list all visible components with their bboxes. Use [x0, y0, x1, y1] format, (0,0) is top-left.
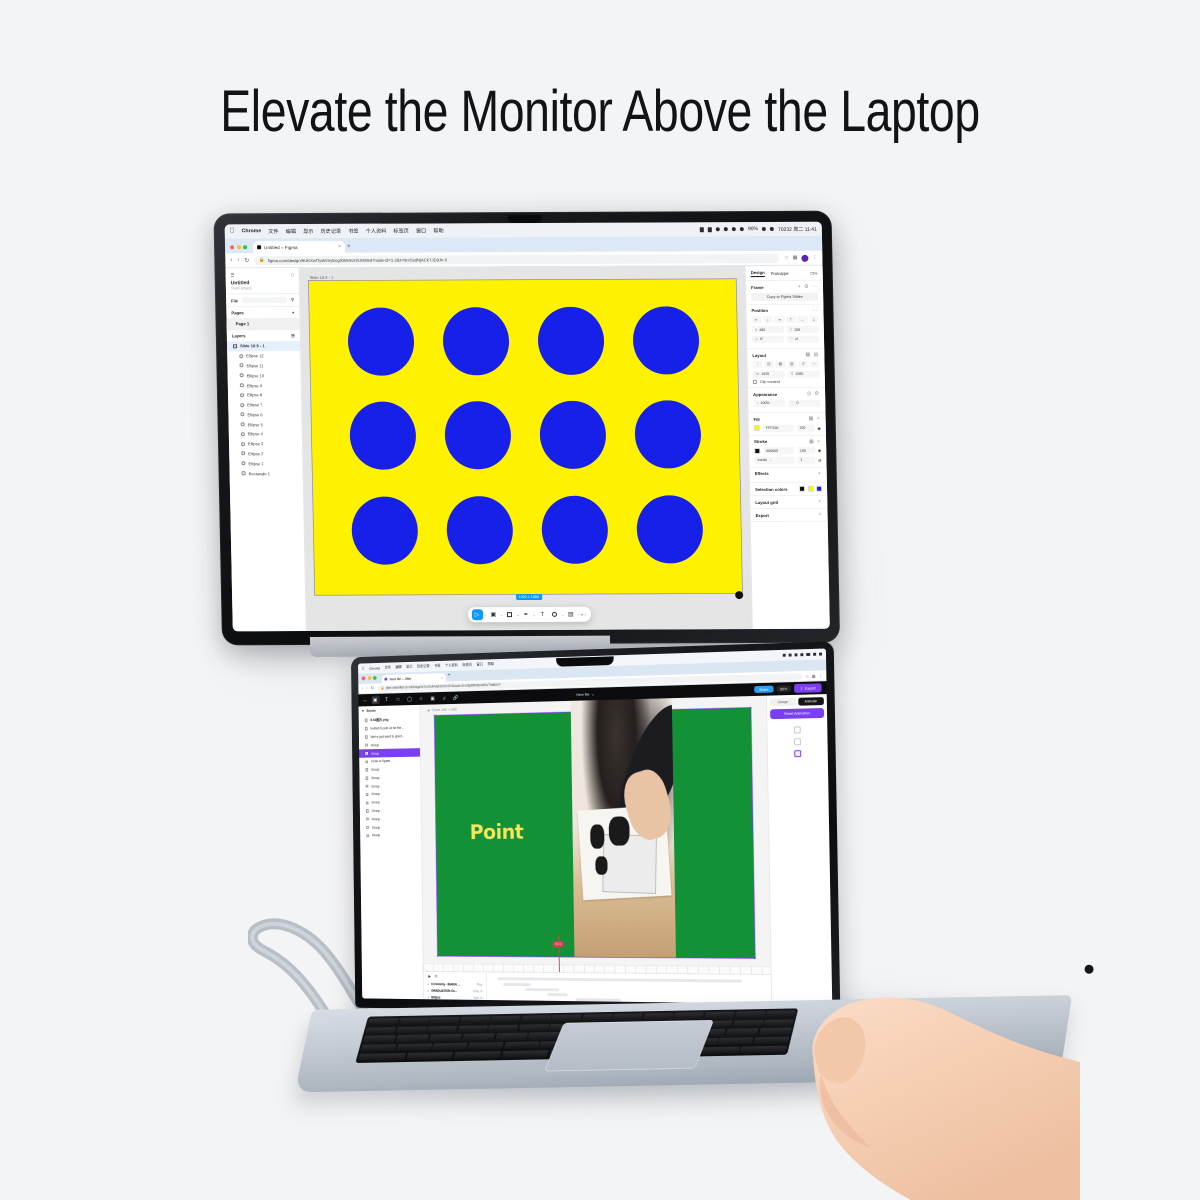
section-stroke-label: Stroke — [754, 439, 767, 444]
figma-ellipse-shape[interactable] — [633, 306, 700, 374]
keyboard-key[interactable] — [643, 1013, 674, 1021]
browser-action-icons[interactable]: ☆ ▦ ⋮ — [784, 254, 817, 261]
jitter-layer-item[interactable]: Group — [360, 831, 421, 840]
keyboard-key[interactable] — [406, 1052, 454, 1060]
keyboard-key[interactable] — [398, 1017, 429, 1025]
menu-help[interactable]: 帮助 — [433, 227, 444, 234]
stroke-width-field[interactable]: 1 — [797, 456, 815, 463]
jitter-favicon-icon — [385, 677, 388, 680]
jitter-zoom-level[interactable]: 86% — [776, 685, 791, 692]
section-fill: Fill▦ + FFF200 100 ◉ — [749, 413, 826, 436]
laptop-reload-icon[interactable]: ↻ — [371, 686, 374, 692]
browser-tab-figma[interactable]: Untitled – Figma × — [253, 241, 345, 253]
tab-design-jitter[interactable]: Design — [770, 698, 796, 707]
figma-logo-icon[interactable]: ☰ — [231, 272, 235, 277]
toolbar-dot-2-icon[interactable]: ● — [581, 612, 584, 617]
laptop-menu-tabs[interactable]: 标签页 — [462, 663, 472, 668]
link-tool-icon[interactable]: 🔗 — [452, 693, 460, 702]
resize-handle-tl[interactable] — [433, 715, 435, 718]
laptop-back-icon[interactable]: ‹ — [362, 686, 363, 692]
timeline-track-names[interactable]: ▶ ⟳ ♪Ceremony - Bubble ...Play♪GRADUATIO… — [424, 972, 487, 1000]
figma-page-item[interactable]: Page 1 — [227, 318, 300, 329]
star-tool-icon[interactable]: ☆ — [417, 694, 425, 703]
search-icon[interactable]: ⚲ — [291, 297, 294, 303]
keyboard-key[interactable] — [426, 1026, 457, 1034]
ellipse-icon — [241, 442, 245, 446]
jitter-layer-name: 6.63图片.png — [370, 717, 388, 722]
keyboard-key[interactable] — [360, 1044, 396, 1052]
jitter-right-panel[interactable]: Design Animate Reset Animation — [766, 694, 832, 1004]
jitter-export-button[interactable]: ⇩Export — [794, 683, 822, 692]
menubar-status-area[interactable]: 90% 70232 周二 11:41 — [700, 225, 817, 233]
audio-tool-icon[interactable]: ♫ — [440, 694, 448, 703]
battery-percent[interactable]: 90% — [748, 226, 758, 232]
figma-layer-item[interactable]: Rectangle 1 — [230, 468, 303, 478]
control-center-icon[interactable] — [740, 227, 744, 231]
laptop-menu-window[interactable]: 窗口 — [477, 662, 484, 667]
comment-tool-icon[interactable] — [549, 609, 560, 620]
track-bar-0[interactable] — [498, 977, 742, 983]
stroke-opacity-field[interactable]: 100 — [797, 447, 815, 454]
figma-layer-item[interactable]: Ellipse 12 — [227, 351, 300, 361]
canvas-headline-text[interactable]: Point — [470, 820, 524, 843]
jitter-panel-tabs[interactable]: Design Animate — [770, 697, 824, 706]
jitter-share-button[interactable]: Share — [754, 686, 773, 693]
timeline-tracks-area[interactable] — [487, 972, 772, 1003]
keyboard-key[interactable] — [528, 1032, 561, 1040]
laptop-extensions-icon[interactable]: ▦ — [812, 673, 816, 678]
stroke-row[interactable]: 000000 100 ◉ — [754, 447, 821, 454]
align-top-icon[interactable]: ⇡ — [786, 316, 796, 323]
toolbar-dot-1-icon[interactable]: ○ — [577, 612, 580, 617]
resize-handle-tr[interactable] — [749, 707, 752, 710]
window-traffic-lights[interactable] — [230, 245, 247, 253]
figma-panel-toggle-icon[interactable]: □ — [291, 272, 294, 277]
toolbar-chevron-2-icon[interactable]: ⌄ — [500, 612, 503, 617]
figma-menu-row[interactable]: ☰ □ — [226, 268, 299, 280]
layout-mode-row[interactable]: ⋮ ▤ ▦ ▧ ↺ ⋯ — [752, 360, 819, 367]
jitter-layers-list[interactable]: 6.63图片.pngInvited to join us for the ...… — [359, 714, 421, 840]
bookmark-star-icon[interactable]: ☆ — [784, 255, 789, 261]
toolbar-chevron-5-icon[interactable]: ⌄ — [561, 612, 564, 617]
layout-auto-icon[interactable]: ⋮ — [752, 361, 762, 368]
keyboard-key[interactable] — [501, 1050, 549, 1058]
keyboard-key[interactable] — [503, 1041, 539, 1049]
laptop-traffic-lights[interactable] — [362, 676, 377, 684]
fill-swatch[interactable] — [754, 425, 760, 431]
jitter-body: ▾ Scene 6.63图片.pngInvited to join us for… — [359, 694, 833, 1004]
stroke-swatch[interactable] — [754, 448, 760, 454]
figma-layer-item[interactable]: Slide 16:9 - 1 — [227, 341, 300, 351]
reset-animation-button[interactable]: Reset Animation — [770, 708, 824, 719]
keyboard-key[interactable] — [488, 1024, 519, 1032]
align-center-h-icon[interactable]: ↕ — [763, 316, 773, 323]
menu-tabs[interactable]: 标签页 — [393, 227, 409, 234]
align-left-icon[interactable]: ⇤ — [752, 316, 762, 323]
figma-layer-item[interactable]: Ellipse 5 — [229, 419, 302, 429]
figma-layer-name: Ellipse 2 — [248, 451, 263, 456]
toolbar-chevron-3-icon[interactable]: ⌄ — [516, 612, 519, 617]
frame-icon: ▣ — [427, 708, 430, 712]
jitter-layer-name: Group — [372, 817, 380, 821]
text-tool-icon[interactable]: T — [537, 609, 548, 620]
scene-chevron-icon[interactable]: ▾ — [362, 709, 364, 713]
ellipse-icon — [241, 422, 245, 426]
new-tab-button[interactable]: + — [347, 244, 351, 253]
keyboard-key[interactable] — [612, 1013, 643, 1021]
text-tool-icon-jitter[interactable]: T — [383, 695, 391, 704]
timeline-track-row[interactable]: ♪EllipseSpin In — [424, 994, 486, 1002]
ellipse-tool-icon-jitter[interactable]: ◯ — [405, 695, 413, 704]
figma-layer-item[interactable]: Ellipse 3 — [229, 439, 302, 449]
figma-ellipse-shape[interactable] — [446, 496, 513, 564]
layer-type-icon — [366, 801, 369, 804]
keyboard-key[interactable] — [457, 1025, 488, 1033]
figma-layer-item[interactable]: Ellipse 1 — [229, 458, 302, 468]
jitter-file-title[interactable]: New file⌄ — [576, 692, 594, 697]
laptop-trackpad[interactable] — [544, 1020, 714, 1071]
ellipse-icon — [241, 452, 245, 456]
position-fields[interactable]: X480 Y108 — [752, 326, 819, 333]
figma-layer-name: Ellipse 4 — [248, 432, 263, 437]
laptop-menu-help[interactable]: 帮助 — [488, 662, 495, 667]
status-icon-1[interactable] — [700, 227, 704, 232]
fill-visibility-icon[interactable]: ◉ — [817, 425, 821, 430]
figma-layer-item[interactable]: Ellipse 7 — [228, 400, 301, 410]
align-middle-v-icon[interactable]: ↔ — [798, 316, 808, 323]
ellipse-icon — [240, 393, 244, 397]
section-layout-grid-label: Layout grid — [755, 499, 778, 504]
position-y-field[interactable]: Y108 — [787, 326, 819, 333]
figma-app: ☰ □ Untitled Team project File ⚲ — [226, 266, 830, 632]
figma-layer-item[interactable]: Ellipse 11 — [227, 361, 300, 371]
photo-paper-2 — [603, 834, 657, 894]
apple-logo-icon[interactable]:  — [230, 228, 235, 235]
position-x-field[interactable]: X480 — [752, 326, 784, 333]
fill-opacity-field[interactable]: 100 — [796, 424, 814, 431]
more-menu-icon[interactable]: ⋮ — [812, 255, 817, 261]
keyboard-key[interactable] — [432, 1043, 468, 1051]
add-effect-icon[interactable]: + — [818, 470, 822, 476]
laptop-close-tab-icon[interactable]: × — [441, 675, 443, 680]
frame-tool-icon[interactable]: ▣ — [488, 609, 499, 620]
jitter-frame[interactable]: Point — [435, 708, 755, 958]
keyboard-key[interactable] — [518, 1024, 549, 1032]
figma-ellipse-shape[interactable] — [351, 496, 418, 564]
frame-actions-icon[interactable]: + ⚙ ⋯ — [798, 284, 818, 290]
timeline-panel[interactable]: ▶ ⟳ ♪Ceremony - Bubble ...Play♪GRADUATIO… — [424, 971, 771, 1004]
wifi-icon[interactable] — [762, 227, 766, 231]
tab-prototype[interactable]: Prototype — [771, 270, 789, 275]
keyboard-key[interactable] — [358, 1053, 406, 1061]
keyboard-key[interactable] — [704, 1012, 735, 1020]
figma-user-avatar[interactable] — [735, 591, 743, 599]
jitter-layer-name: Group — [371, 768, 379, 772]
opacity-field[interactable]: ◑100% — [753, 399, 785, 406]
stroke-hex-field[interactable]: 000000 — [763, 447, 794, 454]
height-field[interactable]: H1080 — [788, 370, 820, 377]
close-tab-icon[interactable]: × — [338, 244, 341, 250]
keyboard-key[interactable] — [396, 1035, 429, 1043]
layer-type-icon — [366, 809, 369, 812]
figma-layer-item[interactable]: Ellipse 4 — [229, 429, 302, 439]
menu-history[interactable]: 历史记录 — [320, 227, 341, 234]
figma-layer-name: Rectangle 1 — [249, 471, 270, 476]
figma-ellipse-shape[interactable] — [348, 307, 415, 375]
menu-window[interactable]: 窗口 — [416, 227, 427, 234]
track-bar-4[interactable] — [576, 998, 621, 1002]
laptop-menu-bookmarks[interactable]: 书签 — [434, 664, 440, 669]
selection-color-swatch[interactable] — [807, 486, 813, 492]
layout-more2-icon[interactable]: ⋯ — [810, 360, 820, 367]
selection-color-swatches[interactable] — [799, 486, 822, 492]
avatar[interactable] — [801, 254, 808, 261]
add-page-icon[interactable]: + — [292, 310, 295, 315]
keyboard-key[interactable] — [462, 1034, 495, 1042]
menu-edit[interactable]: 编辑 — [286, 228, 297, 235]
menu-profiles[interactable]: 个人资料 — [366, 227, 387, 234]
figma-layer-name: Ellipse 12 — [246, 353, 263, 358]
toolbar-dot-3-icon[interactable]: ○ — [584, 612, 587, 617]
layout-more-icon[interactable]: ▦ ▤ — [805, 352, 819, 358]
timeline-track-row[interactable]: ♪GRADUATION C...Fade Out — [424, 1001, 486, 1004]
figma-toolbar[interactable]: ▷ ⌄ ▣ ⌄ ⌄ ✒ ⌄ T ⌄ ▤ ○ — [467, 607, 590, 623]
track-type-icon: ♪ — [428, 989, 429, 993]
select-tool-icon[interactable]: ▣ — [371, 696, 379, 705]
figma-file-search-input[interactable] — [242, 297, 287, 303]
layer-type-icon — [365, 744, 368, 747]
figma-layer-item[interactable]: Ellipse 9 — [228, 380, 301, 390]
laptop-menu-view[interactable]: 显示 — [406, 665, 412, 670]
laptop-menu-history[interactable]: 历史记录 — [417, 664, 430, 669]
forward-icon[interactable]: › — [237, 257, 239, 264]
menu-chrome[interactable]: Chrome — [242, 228, 262, 234]
keyboard-key[interactable] — [429, 1034, 462, 1042]
toolbar-chevron-4-icon[interactable]: ⌄ — [533, 612, 536, 617]
corner-radius-field[interactable]: ◠0 — [788, 399, 820, 406]
laptop-lid:  Chrome 文件 编辑 显示 历史记录 书签 个人资料 标签页 窗口 帮助 — [351, 641, 840, 1014]
size-fields[interactable]: W1920 H1080 — [753, 370, 820, 377]
property-icon-1[interactable] — [794, 726, 801, 733]
appearance-more-icon[interactable]: ◎ ⚙ — [807, 391, 820, 397]
timeline-track-effect: Play — [477, 982, 483, 986]
layer-type-icon — [365, 768, 368, 771]
rotation-field[interactable]: ∠0° — [752, 335, 784, 342]
stroke-advanced-icon[interactable]: ⇄ — [818, 457, 821, 462]
resize-handle-br[interactable] — [754, 957, 757, 960]
keyboard-key[interactable] — [365, 1027, 396, 1035]
jitter-layer-name: We're just want to greet... — [371, 734, 405, 739]
back-icon[interactable]: ‹ — [230, 257, 232, 264]
keyboard-key[interactable] — [495, 1033, 528, 1041]
layout-horizontal-icon[interactable]: ▤ — [764, 360, 774, 367]
figma-pages-header[interactable]: Pages + — [226, 306, 299, 318]
figma-ellipse-shape[interactable] — [538, 307, 605, 375]
corner-tools[interactable]: ◠⇄ — [787, 335, 819, 342]
laptop-menubar-status[interactable] — [782, 652, 822, 657]
laptop-menu-profiles[interactable]: 个人资料 — [445, 663, 458, 668]
keyboard-key[interactable] — [468, 1042, 504, 1050]
laptop-menu-file[interactable]: 文件 — [385, 665, 391, 670]
track-bar-3[interactable] — [548, 993, 568, 997]
figma-ellipse-shape[interactable] — [350, 402, 417, 470]
figma-ellipse-shape[interactable] — [541, 496, 608, 564]
rotation-fields[interactable]: ∠0° ◠⇄ — [752, 335, 819, 342]
align-right-icon[interactable]: ⇥ — [775, 316, 785, 323]
layout-vertical-icon[interactable]: ▦ — [775, 360, 785, 367]
hand-on-trackpad — [735, 962, 1080, 1200]
jitter-canvas[interactable]: ▣Frame 1080 × 1080 — [420, 696, 771, 1004]
ellipse-icon — [240, 413, 244, 417]
layer-type-icon — [365, 719, 368, 722]
keyboard-key[interactable] — [551, 1015, 582, 1023]
track-bar-2[interactable] — [525, 988, 558, 992]
figma-ellipse-shape[interactable] — [539, 401, 606, 469]
align-buttons-row[interactable]: ⇤ ↕ ⇥ ⇡ ↔ ⇣ — [752, 316, 819, 323]
keyboard-key[interactable] — [363, 1035, 396, 1043]
status-icon-3[interactable] — [716, 227, 720, 231]
position-more-icon[interactable]: ⋯ — [812, 307, 818, 313]
jitter-back-icon[interactable]: ← — [363, 697, 368, 703]
copy-to-figma-slides-button[interactable]: Copy to Figma Slides — [751, 292, 818, 300]
spotlight-search-icon[interactable] — [770, 227, 774, 231]
laptop-menu-chrome[interactable]: Chrome — [369, 666, 380, 670]
figma-layer-item[interactable]: Ellipse 8 — [228, 390, 301, 400]
align-bottom-icon[interactable]: ⇣ — [809, 316, 819, 323]
apple-logo-icon-laptop[interactable]:  — [362, 666, 365, 671]
property-icon-2[interactable] — [794, 738, 801, 745]
add-fill-icon[interactable]: ▦ + — [809, 416, 821, 422]
layers-options-icon[interactable]: ☷ — [291, 333, 295, 338]
figma-layer-name: Ellipse 9 — [247, 383, 262, 388]
figma-frame-label[interactable]: Slide 16:9 - 1 — [310, 275, 334, 280]
stroke-style-field[interactable]: Inside⌄ — [754, 456, 794, 463]
width-field[interactable]: W1920 — [753, 370, 785, 377]
figma-layer-item[interactable]: Ellipse 6 — [228, 409, 301, 419]
laptop-browser-actions[interactable]: ☆ ▦ ⋮ — [805, 673, 822, 678]
menu-view[interactable]: 显示 — [303, 227, 314, 234]
laptop-nav-controls[interactable]: ‹ › ↻ — [362, 686, 374, 692]
figma-file-search-row[interactable]: File ⚲ — [226, 293, 299, 306]
section-effects-label: Effects — [755, 471, 769, 476]
appearance-fields[interactable]: ◑100% ◠0 — [753, 399, 820, 406]
ellipse-icon — [240, 374, 244, 378]
jitter-appbar-right[interactable]: Share 86% ⇩Export — [754, 683, 822, 693]
loop-icon[interactable]: ⟳ — [435, 974, 438, 979]
figma-ellipse-shape[interactable] — [634, 401, 701, 469]
figma-ellipse-shape[interactable] — [445, 401, 512, 469]
zoom-level[interactable]: 73% — [810, 270, 818, 275]
menubar-clock[interactable]: 70232 周二 11:41 — [778, 225, 817, 232]
fill-row[interactable]: FFF200 100 ◉ — [754, 424, 821, 431]
laptop-new-tab-button[interactable]: + — [447, 673, 450, 682]
figma-layer-item[interactable]: Ellipse 10 — [228, 370, 301, 380]
image-tool-icon[interactable]: ▣ — [429, 694, 437, 703]
resize-handle-bl[interactable] — [437, 955, 439, 957]
keyboard-key[interactable] — [453, 1051, 501, 1059]
timeline-track-name: GRADUATION Ce... — [431, 989, 457, 993]
stroke-visibility-icon[interactable]: ◉ — [818, 448, 822, 453]
menu-file[interactable]: 文件 — [268, 228, 279, 235]
keyboard-key[interactable] — [582, 1014, 613, 1022]
figma-ellipse-shape[interactable] — [636, 495, 703, 563]
figma-layer-item[interactable]: Ellipse 2 — [229, 449, 302, 459]
figma-layer-name: Ellipse 5 — [248, 422, 263, 427]
figma-frame[interactable] — [309, 279, 742, 595]
status-icon-4[interactable] — [724, 227, 728, 231]
menu-bookmarks[interactable]: 书签 — [348, 227, 359, 234]
status-icon-2[interactable] — [708, 227, 712, 232]
reload-icon[interactable]: ↻ — [244, 257, 249, 264]
laptop-more-menu-icon[interactable]: ⋮ — [818, 673, 822, 678]
canvas-photo[interactable] — [570, 696, 676, 958]
keyboard-key[interactable] — [429, 1017, 460, 1025]
figma-layers-header[interactable]: Layers ☷ — [227, 329, 300, 341]
selection-color-swatch[interactable] — [816, 486, 822, 492]
monitor-macos-menubar[interactable]:  Chrome 文件 编辑 显示 历史记录 书签 个人资料 标签页 窗口 帮助 — [225, 222, 822, 239]
rectangle-tool-icon[interactable] — [504, 609, 515, 620]
track-bar-1[interactable] — [503, 983, 531, 987]
jitter-layer-name: Group — [371, 743, 379, 747]
jitter-property-icons[interactable] — [770, 726, 824, 758]
figma-inspector-tabs[interactable]: Design Prototype 73% — [746, 266, 823, 281]
figma-ellipse-shape[interactable] — [443, 307, 510, 375]
jitter-frame-label[interactable]: ▣Frame 1080 × 1080 — [427, 708, 456, 713]
add-stroke-icon[interactable]: ▦ + — [809, 438, 821, 444]
layout-grid-icon[interactable]: ▧ — [787, 360, 797, 367]
add-layout-grid-icon[interactable]: + — [818, 499, 822, 505]
actions-tool-icon[interactable]: ▤ — [565, 609, 576, 620]
stroke-style-row[interactable]: Inside⌄ 1 ⇄ — [754, 456, 821, 463]
property-icon-3[interactable] — [794, 750, 801, 757]
extensions-icon[interactable]: ▦ — [793, 255, 798, 261]
rectangle-tool-icon-jitter[interactable]: □ — [394, 695, 402, 704]
tab-design[interactable]: Design — [751, 270, 765, 277]
selection-color-swatch[interactable] — [799, 486, 805, 492]
figma-layers-list[interactable]: Slide 16:9 - 1Ellipse 12Ellipse 11Ellips… — [227, 341, 303, 478]
jitter-layers-panel[interactable]: ▾ Scene 6.63图片.pngInvited to join us for… — [359, 705, 425, 999]
layout-wrap-icon[interactable]: ↺ — [798, 360, 808, 367]
laptop-bookmark-star-icon[interactable]: ☆ — [805, 673, 809, 678]
layer-type-icon — [366, 834, 369, 837]
laptop-side-dot — [1084, 965, 1093, 974]
add-export-icon[interactable]: + — [819, 512, 823, 518]
toolbar-chevron-1-icon[interactable]: ⌄ — [483, 612, 486, 617]
keyboard-key[interactable] — [368, 1018, 399, 1026]
tab-animate-jitter[interactable]: Animate — [798, 697, 824, 706]
browser-nav-controls[interactable]: ‹ › ↻ — [230, 257, 249, 264]
keyboard-key[interactable] — [490, 1016, 521, 1024]
laptop-forward-icon[interactable]: › — [366, 686, 367, 692]
export-icon: ⇩ — [800, 686, 803, 691]
figma-canvas[interactable]: Slide 16:9 - 1 1920 × 1080 ▷ ⌄ ▣ ⌄ ⌄ — [300, 266, 752, 631]
move-tool-icon[interactable]: ▷ — [471, 609, 482, 620]
clip-content-checkbox[interactable]: Clip content — [753, 380, 820, 384]
jitter-layer-name: Group — [372, 825, 380, 829]
keyboard-key[interactable] — [396, 1044, 432, 1052]
keyboard-key[interactable] — [459, 1016, 490, 1024]
pen-tool-icon[interactable]: ✒ — [520, 609, 531, 620]
keyboard-key[interactable] — [520, 1015, 551, 1023]
keyboard-key[interactable] — [673, 1012, 704, 1020]
play-icon[interactable]: ▶ — [428, 974, 431, 979]
laptop-menu-edit[interactable]: 编辑 — [395, 665, 401, 670]
keyboard-key[interactable] — [396, 1026, 427, 1034]
section-layout-label: Layout — [752, 352, 766, 357]
fill-hex-field[interactable]: FFF200 — [763, 424, 794, 431]
address-bar[interactable]: 🔒 figma.com/design/6UEXwfTpWznyEogrbMv5U… — [254, 253, 779, 264]
status-icon-5[interactable] — [732, 227, 736, 231]
